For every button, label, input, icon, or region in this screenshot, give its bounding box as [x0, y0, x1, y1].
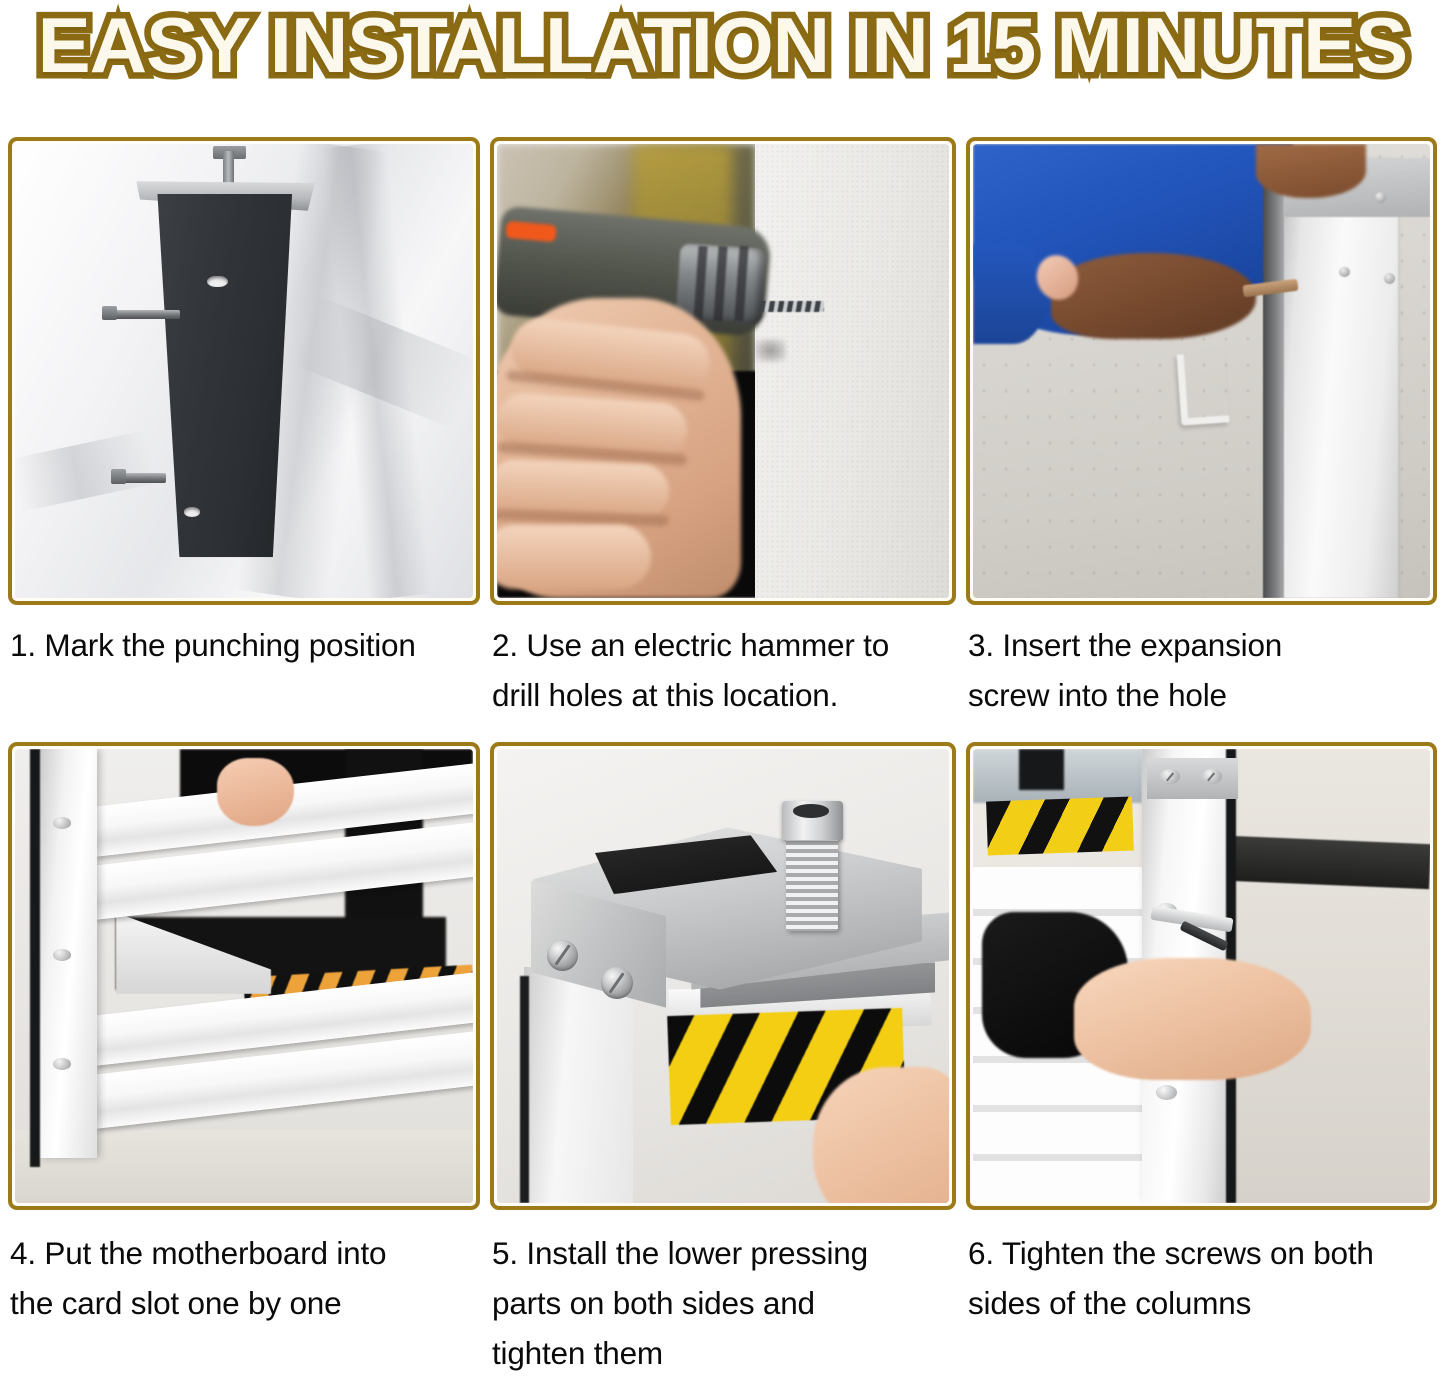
- white-wall: [755, 144, 949, 598]
- step-caption-6: 6. Tighten the screws on both sides of t…: [968, 1228, 1438, 1328]
- white-column: [1279, 162, 1398, 598]
- mounting-hole-upper: [207, 276, 227, 288]
- column-dark-edge: [30, 749, 41, 1167]
- step-card-5: [490, 742, 956, 1210]
- step-card-2: [490, 137, 956, 605]
- top-screw-right: [1202, 769, 1222, 784]
- step-card-1: [8, 137, 480, 605]
- column-screw-lower: [1156, 1085, 1177, 1100]
- step-photo-2: [490, 137, 956, 605]
- phillips-screw-2: [601, 967, 633, 999]
- mounting-hole-lower: [184, 507, 200, 517]
- top-bolt-shaft: [223, 151, 234, 187]
- step-card-3: [966, 137, 1437, 605]
- step-photo-4: [8, 742, 480, 1210]
- hand-with-wrench: [1074, 958, 1312, 1081]
- column-shadow-edge: [1263, 180, 1284, 598]
- step-card-6: [966, 742, 1437, 1210]
- white-post: [524, 967, 632, 1203]
- hazard-stripe: [986, 796, 1134, 856]
- step-card-4: [8, 742, 480, 1210]
- allen-key-on-floor: [1176, 351, 1229, 425]
- step-caption-1: 1. Mark the punching position: [10, 620, 480, 670]
- step-caption-2: 2. Use an electric hammer to drill holes…: [492, 620, 962, 720]
- step-caption-3: 3. Insert the expansion screw into the h…: [968, 620, 1438, 720]
- step-caption-5: 5. Install the lower pressing parts on b…: [492, 1228, 962, 1378]
- expansion-rod-upper: [107, 310, 180, 320]
- step-photo-3: [966, 137, 1437, 605]
- step-caption-4: 4. Put the motherboard into the card slo…: [10, 1228, 480, 1328]
- step-photo-1: [8, 137, 480, 605]
- forearm: [1051, 253, 1257, 339]
- baseboard: [1228, 836, 1430, 890]
- steps-grid: 1. Mark the punching position 2. Use an …: [0, 0, 1445, 1352]
- drill-dust: [755, 339, 787, 362]
- step-photo-5: [490, 742, 956, 1210]
- step-photo-6: [966, 742, 1437, 1210]
- drill-bit: [761, 301, 824, 311]
